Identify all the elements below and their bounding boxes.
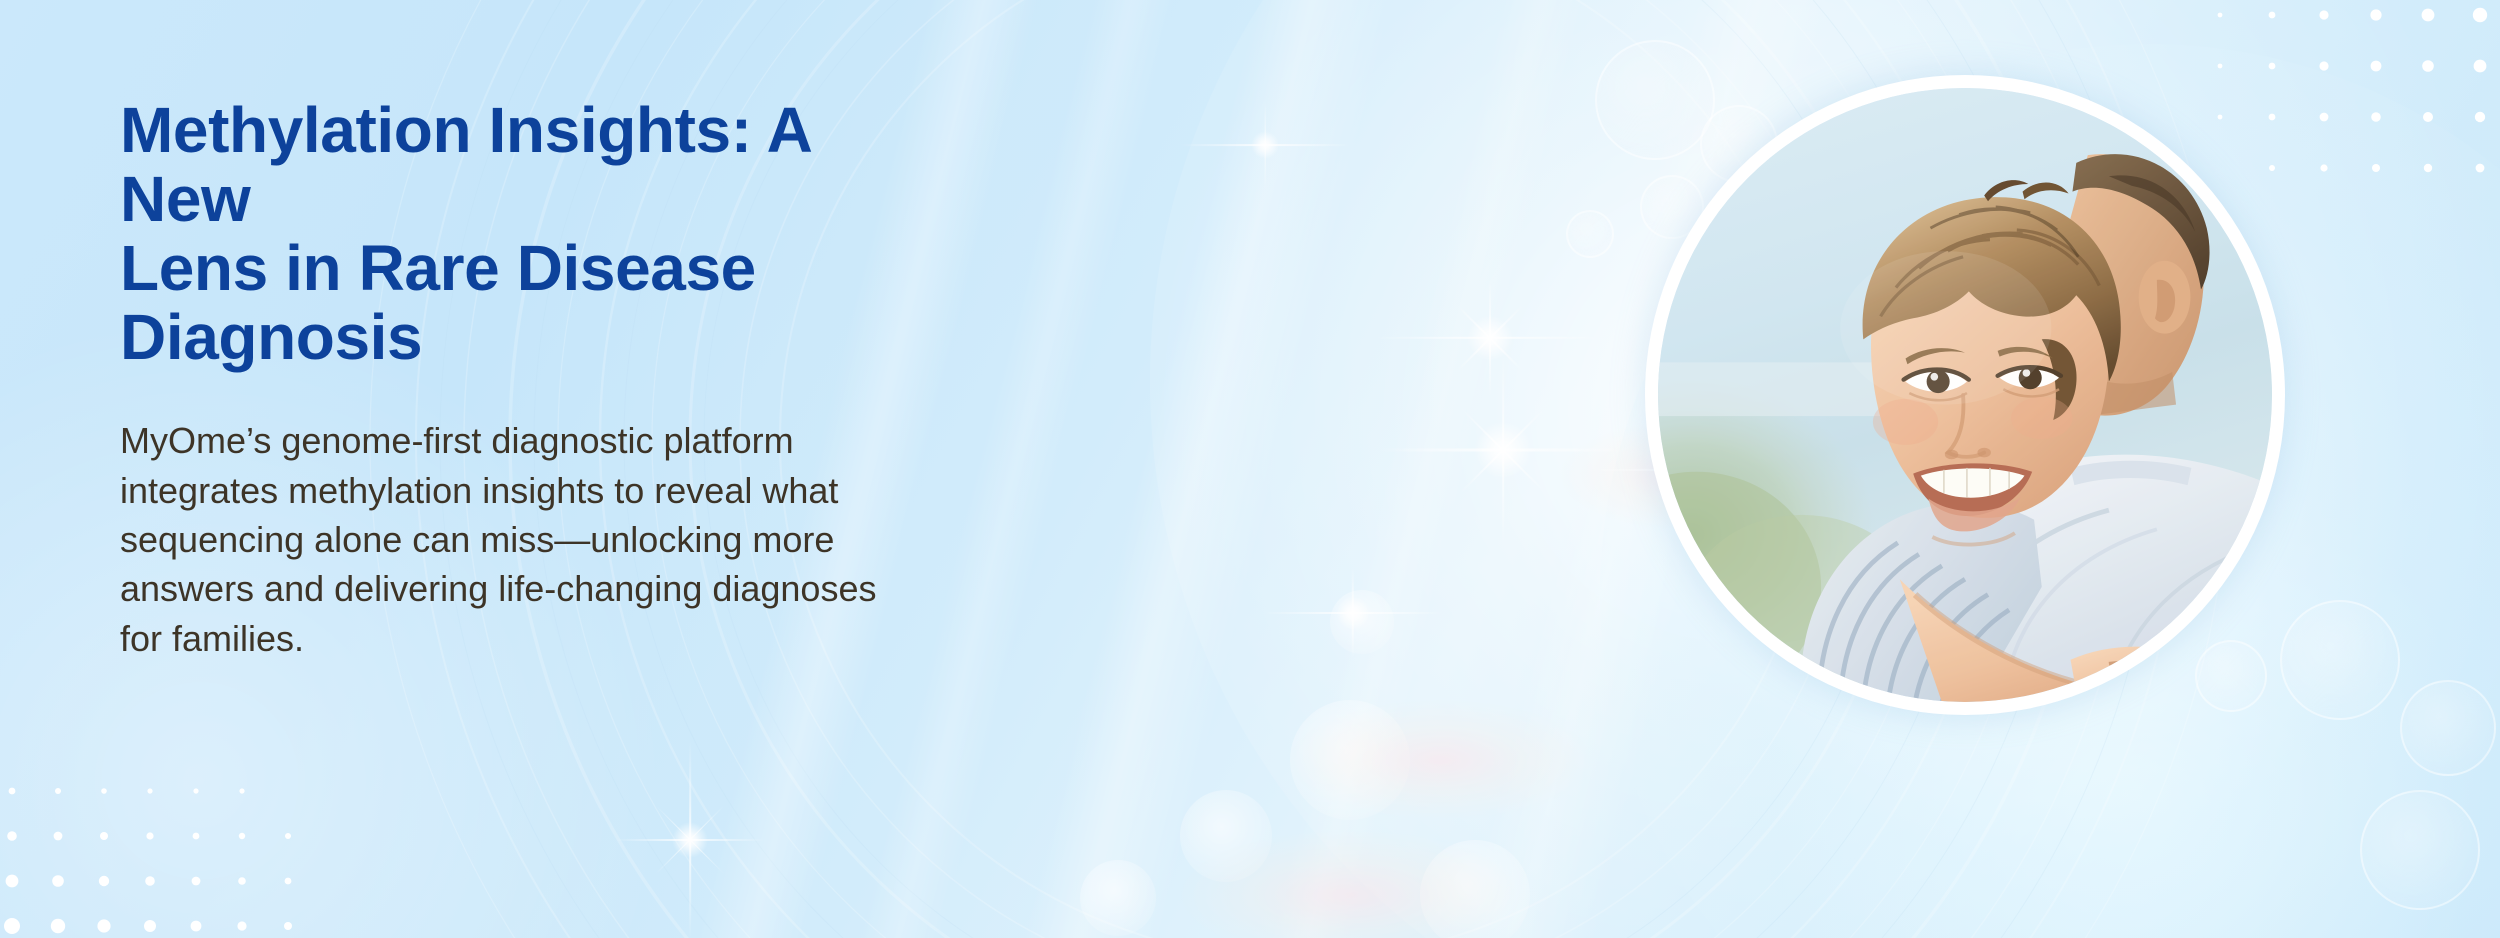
bokeh-circle	[1330, 590, 1394, 654]
sparkle-star-icon	[590, 740, 790, 938]
subcopy-line: integrates methylation insights to revea…	[120, 466, 860, 515]
sparkle-star-icon	[1268, 528, 1438, 698]
bokeh-circle	[2195, 640, 2267, 712]
hero-text-column: Methylation Insights: A New Lens in Rare…	[120, 96, 1180, 663]
bokeh-circle	[1566, 210, 1614, 258]
sparkle-star-icon	[1403, 350, 1603, 550]
headline-line: Lens in Rare Disease Diagnosis	[120, 234, 880, 372]
bokeh-circle	[1595, 40, 1715, 160]
subcopy-line: sequencing alone can miss—unlocking more	[120, 515, 860, 564]
hero-banner: Methylation Insights: A New Lens in Rare…	[0, 0, 2500, 938]
dot-grid-bottom-left	[0, 768, 300, 938]
bokeh-circle	[1420, 840, 1530, 938]
bokeh-circle	[1290, 700, 1410, 820]
dot-grid-top-right	[2200, 0, 2500, 175]
page-title: Methylation Insights: A New Lens in Rare…	[120, 96, 880, 372]
bokeh-circle	[2400, 680, 2496, 776]
lens-flare	[1180, 830, 1520, 938]
subcopy-line: answers and delivering life-changing dia…	[120, 564, 860, 613]
bokeh-circle	[2360, 790, 2480, 910]
bokeh-circle	[1180, 790, 1272, 882]
sparkle-star-icon	[1180, 60, 1350, 230]
lens-flare	[1290, 700, 1590, 820]
bokeh-circle	[1080, 860, 1156, 936]
bokeh-circle	[2280, 600, 2400, 720]
sparkle-star-icon	[1370, 218, 1610, 458]
hero-photo-medallion	[1645, 75, 2285, 715]
hero-subcopy: MyOme’s genome-first diagnostic platform…	[120, 416, 860, 663]
headline-line: Methylation Insights: A New	[120, 96, 880, 234]
subcopy-line: for families.	[120, 614, 860, 663]
subcopy-line: MyOme’s genome-first diagnostic platform	[120, 416, 860, 465]
hero-photo	[1658, 88, 2272, 702]
